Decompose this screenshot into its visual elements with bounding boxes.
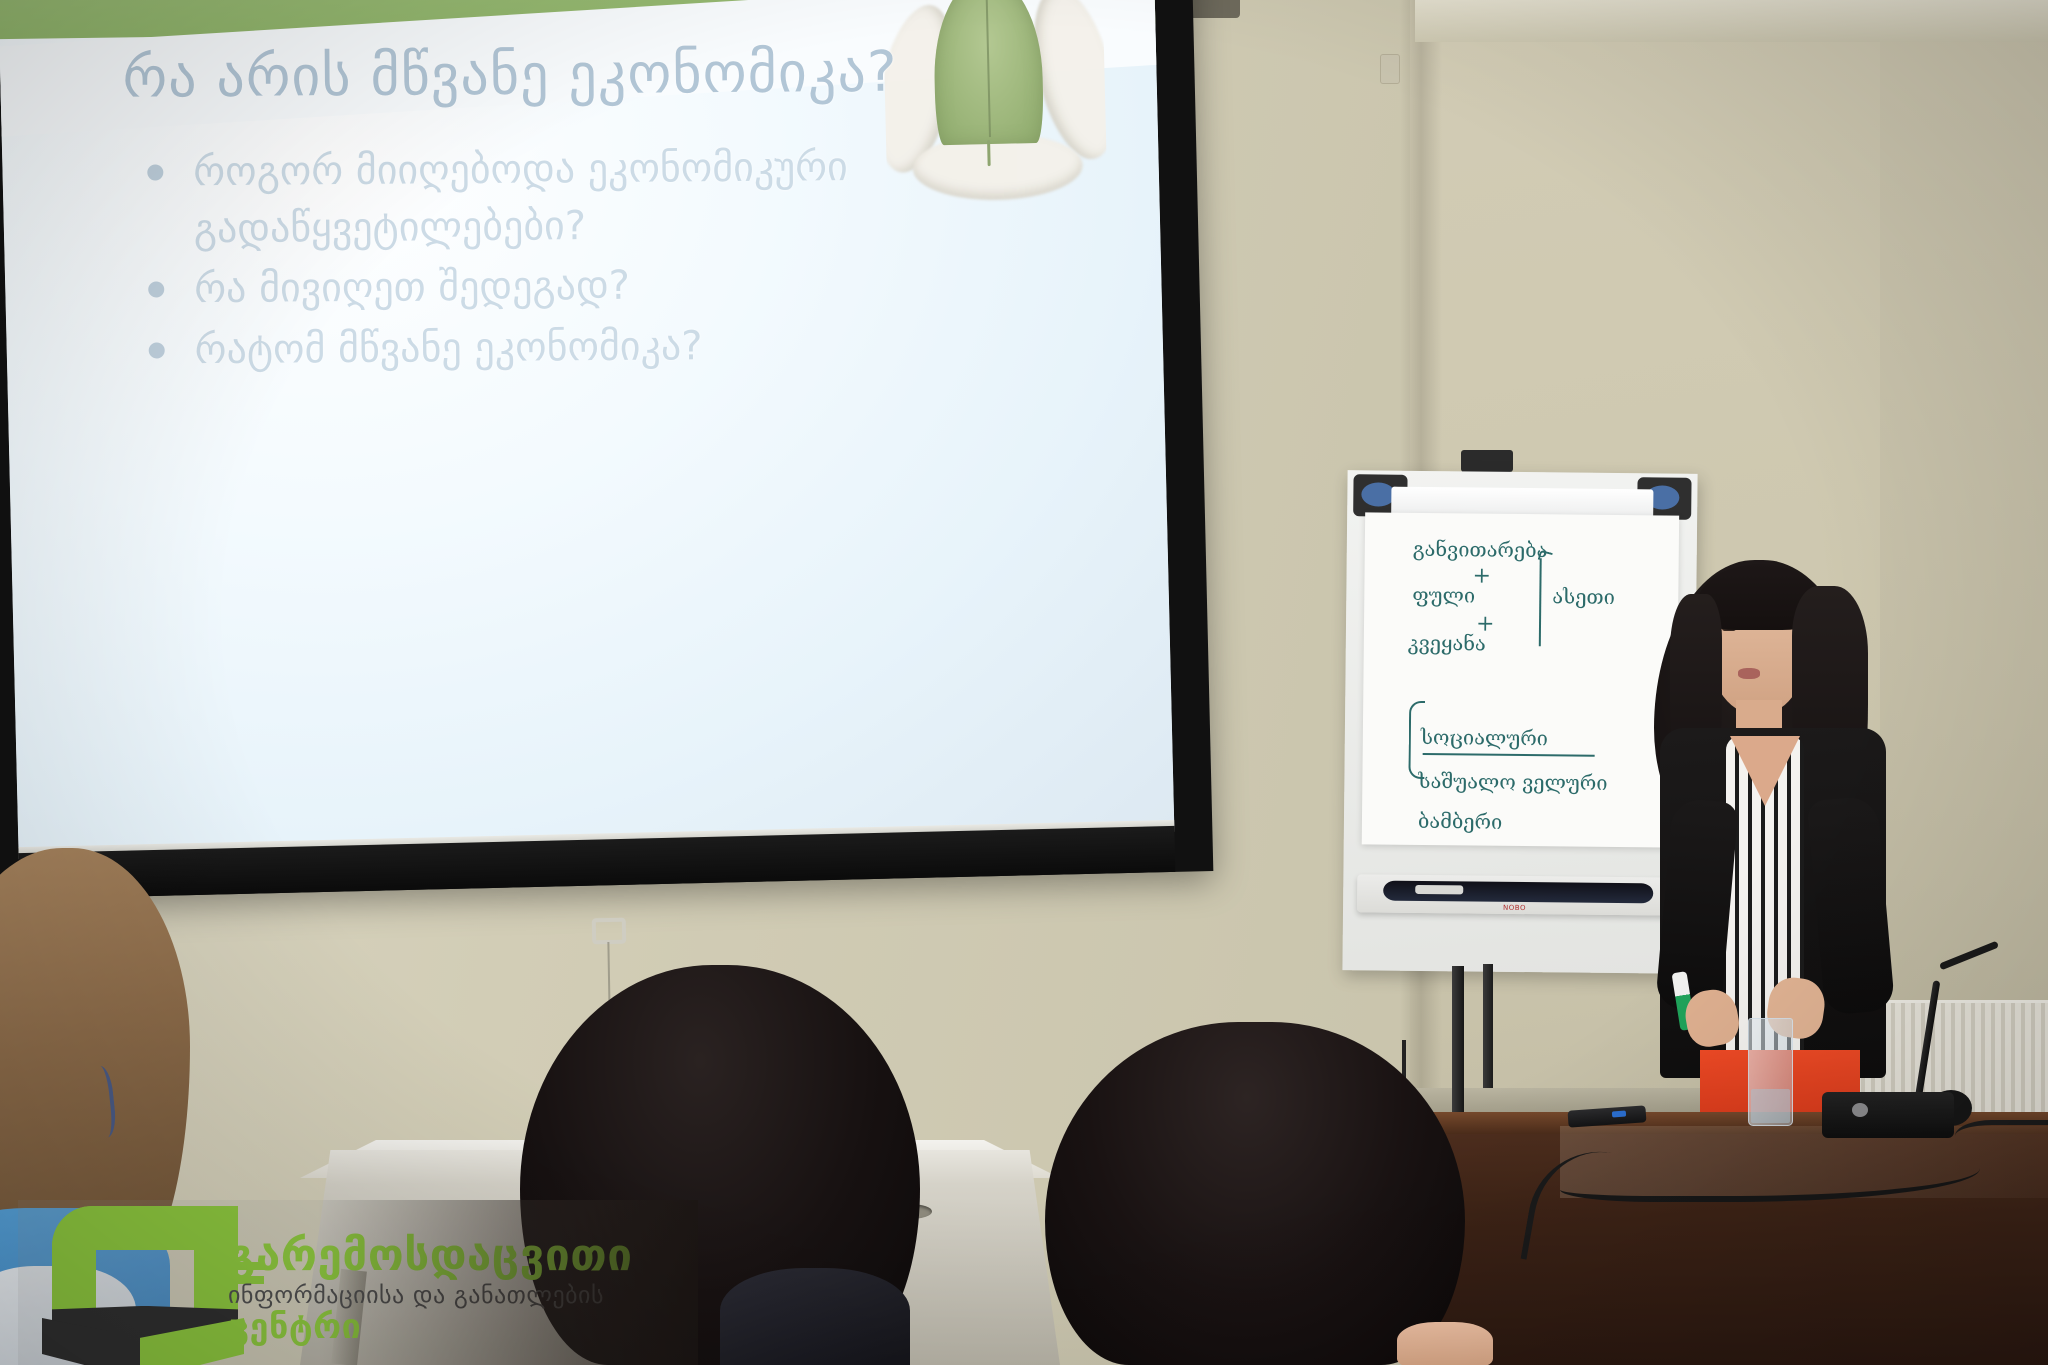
projection-screen: რა არის მწვანე ეკონომიკა? როგორ მიიღებოდ… — [0, 0, 1213, 900]
ceiling — [1415, 0, 2048, 42]
water-glass — [1748, 1018, 1793, 1126]
logo-text-block: გარემოსდაცვითი ინფორმაციისა და განათლები… — [228, 1234, 698, 1344]
microphone-base-unit[interactable] — [1822, 1092, 1954, 1138]
attendee-far-right-shoulder — [720, 1268, 910, 1365]
flipchart-top-rail — [1461, 450, 1513, 472]
slide-bullet-3: რატომ მწვანე ეკონომიკა? — [142, 316, 984, 379]
flipchart-line-4: სოციალური — [1421, 725, 1548, 750]
table-cable-right — [1955, 1120, 2048, 1160]
screen-pull-handle[interactable] — [592, 918, 627, 945]
microphone-button[interactable] — [1852, 1103, 1868, 1117]
projected-slide: რა არის მწვანე ეკონომიკა? როგორ მიიღებოდ… — [0, 0, 1174, 853]
slide-bullet-2-text: რა მივიღეთ შედეგად? — [194, 263, 630, 312]
attendee-right-hand — [1397, 1322, 1493, 1365]
slide-bullet-2: რა მივიღეთ შედეგად? — [142, 255, 984, 318]
flipchart-underline — [1423, 753, 1595, 757]
flipchart-right-label: ასეთი — [1552, 584, 1615, 609]
slide-bullet-1: როგორ მიიღებოდა ეკონომიკური გადაწყვეტილე… — [141, 138, 942, 258]
smoke-detector-icon — [1380, 54, 1400, 84]
flipchart-line-6: ბამბერი — [1418, 809, 1503, 834]
attendee-right — [1045, 1022, 1465, 1365]
flipchart-marker-tray: NOBO — [1357, 874, 1679, 915]
presenter-mouth — [1738, 668, 1760, 679]
logo-line-2: ინფორმაციისა და განათლების — [228, 1282, 698, 1308]
organization-logo-watermark: გარემოსდაცვითი ინფორმაციისა და განათლები… — [18, 1200, 698, 1365]
flipchart-tray-marker[interactable] — [1415, 885, 1463, 895]
slide-bullet-1-text: როგორ მიიღებოდა ეკონომიკური გადაწყვეტილე… — [193, 144, 848, 252]
slide-bullet-list: როგორ მიიღებოდა ეკონომიკური გადაწყვეტილე… — [123, 138, 985, 380]
logo-line-1: გარემოსდაცვითი — [228, 1234, 698, 1278]
flipchart-vertical-divider — [1539, 558, 1542, 646]
flipchart-line-1: განვითარება — [1413, 537, 1548, 562]
slide-bullet-3-text: რატომ მწვანე ეკონომიკა? — [195, 323, 703, 373]
bullet-dot-icon — [147, 164, 163, 180]
bullet-dot-icon — [148, 282, 164, 298]
flipchart-paper: განვითარება + ფული + კვეყანა ასეთი სოცია… — [1362, 512, 1679, 847]
flipchart-line-3: კვეყანა — [1408, 631, 1486, 656]
flipchart-handwriting: განვითარება + ფული + კვეყანა ასეთი სოცია… — [1362, 512, 1679, 847]
slide-title: რა არის მწვანე ეკონომიკა? — [122, 41, 982, 110]
attendee-right-hair — [1045, 1022, 1465, 1365]
logo-mark — [44, 1206, 244, 1365]
lecture-room-screenshot: რა არის მწვანე ეკონომიკა? როგორ მიიღებოდ… — [0, 0, 2048, 1365]
slide-text-block: რა არის მწვანე ეკონომიკა? როგორ მიიღებოდ… — [122, 41, 985, 384]
bullet-dot-icon — [149, 343, 165, 359]
logo-line-3: ცენტრი — [228, 1310, 698, 1344]
flipchart-line-2: ფული — [1412, 583, 1475, 608]
flipchart-brand-label: NOBO — [1503, 904, 1526, 912]
leaf-stem-shape — [987, 140, 991, 166]
remote-button[interactable] — [1612, 1111, 1626, 1118]
flipchart-line-5: საშუალო ველური — [1418, 769, 1607, 795]
